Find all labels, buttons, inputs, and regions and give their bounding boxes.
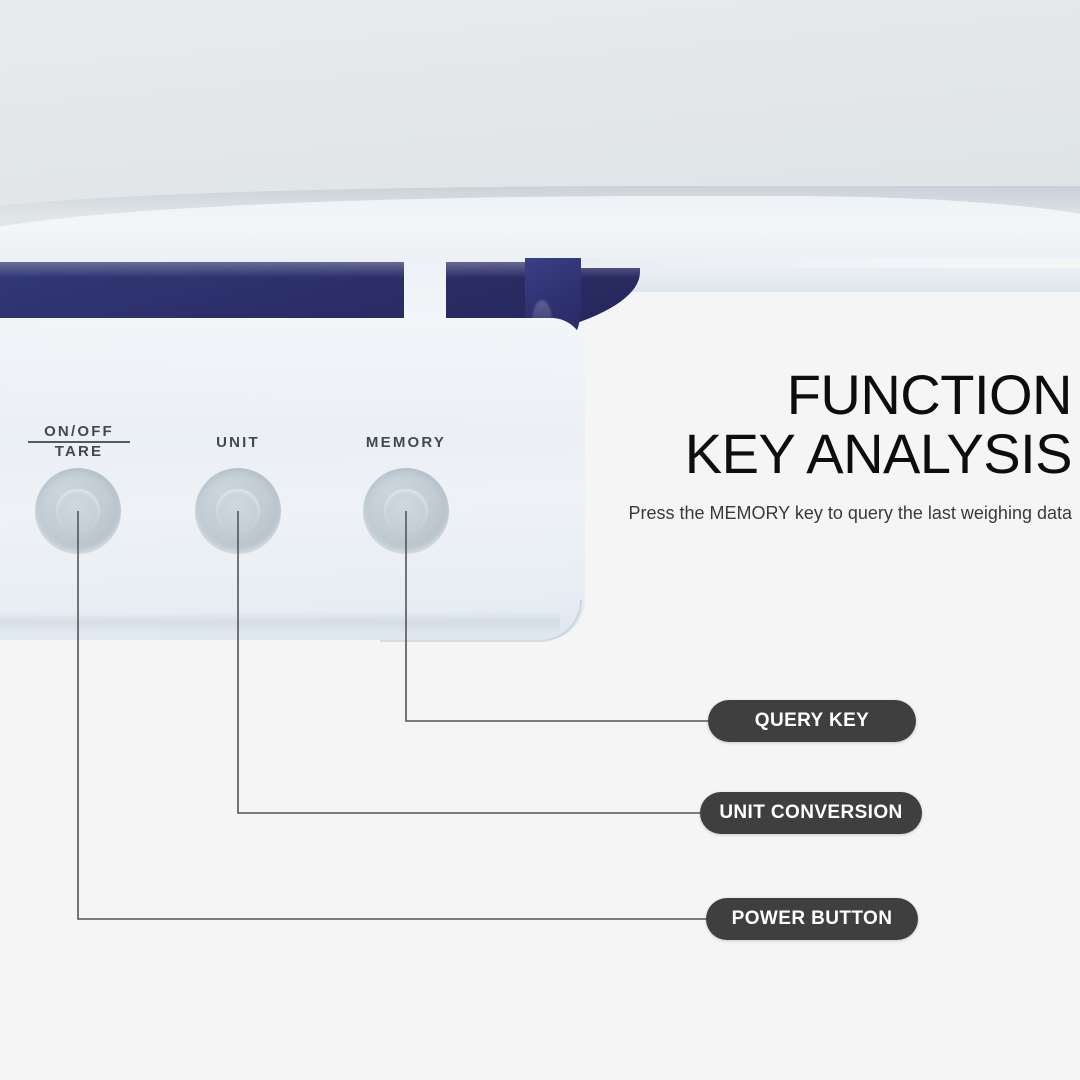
callout-pill-0[interactable]: QUERY KEY: [708, 700, 916, 742]
leader-line: [406, 511, 708, 721]
callout-pill-2[interactable]: POWER BUTTON: [706, 898, 918, 940]
infographic-canvas: ON/OFF TARE UNIT MEMORY FUNCTION KEY ANA…: [0, 0, 1080, 1080]
leader-line: [238, 511, 700, 813]
callout-pill-label: UNIT CONVERSION: [719, 802, 902, 824]
callout-group: QUERY KEYUNIT CONVERSIONPOWER BUTTON: [0, 0, 1080, 1080]
callout-pill-label: POWER BUTTON: [732, 908, 893, 930]
callout-pill-1[interactable]: UNIT CONVERSION: [700, 792, 922, 834]
leader-lines: [0, 0, 1080, 1080]
callout-pill-label: QUERY KEY: [755, 710, 869, 732]
leader-line: [78, 511, 706, 919]
